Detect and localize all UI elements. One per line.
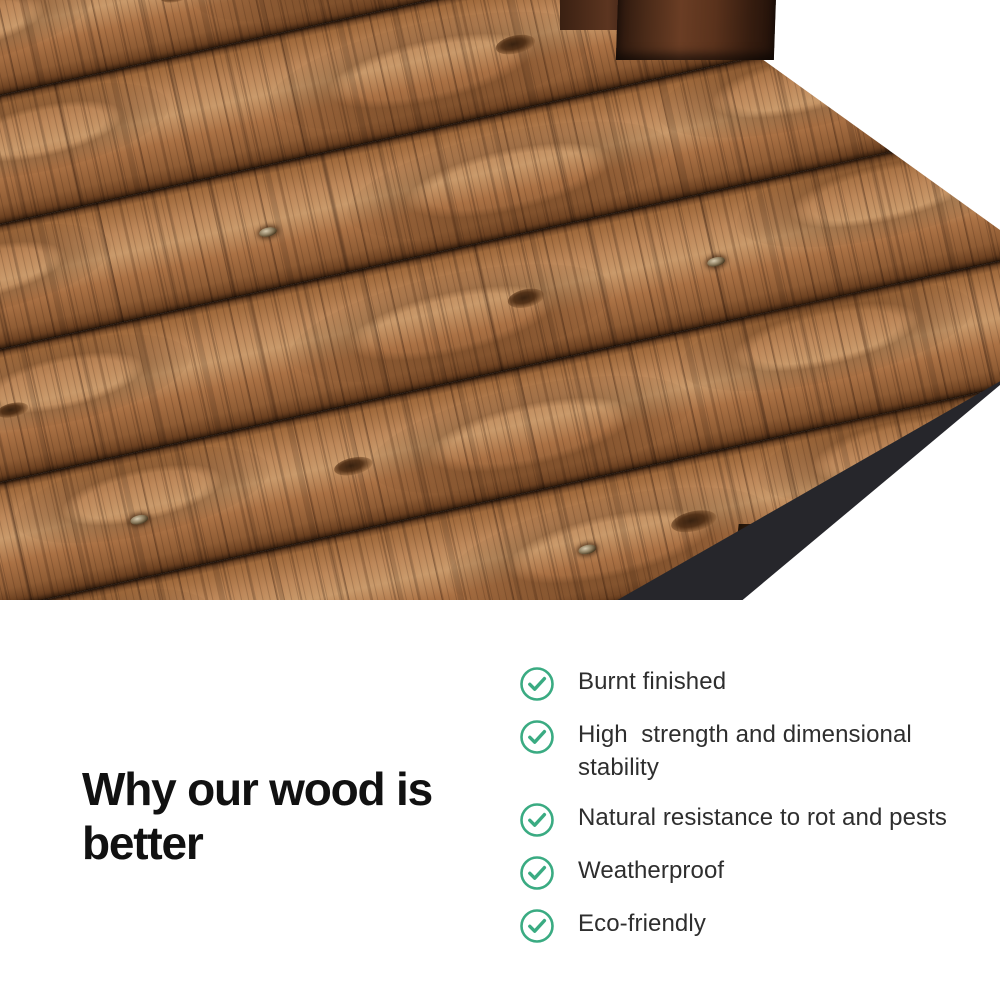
wood-post-icon	[616, 0, 776, 60]
feature-label: Weatherproof	[578, 853, 724, 887]
feature-list: Burnt finishedHigh strength and dimensio…	[518, 664, 988, 959]
feature-list-item: Natural resistance to rot and pests	[518, 800, 988, 839]
promo-page: Why our wood is better Burnt finishedHig…	[0, 0, 1000, 1000]
page-title: Why our wood is better	[82, 762, 482, 870]
feature-label: High strength and dimensional stability	[578, 717, 923, 784]
feature-list-item: High strength and dimensional stability	[518, 717, 988, 784]
product-photo	[0, 0, 1000, 600]
check-circle-icon	[518, 907, 556, 945]
feature-label: Eco-friendly	[578, 906, 706, 940]
check-circle-icon	[518, 718, 556, 756]
feature-list-item: Burnt finished	[518, 664, 988, 703]
feature-list-item: Weatherproof	[518, 853, 988, 892]
check-circle-icon	[518, 801, 556, 839]
check-circle-icon	[518, 665, 556, 703]
feature-label: Natural resistance to rot and pests	[578, 800, 947, 834]
photo-white-strip-top-right	[750, 0, 1000, 60]
feature-label: Burnt finished	[578, 664, 726, 698]
check-circle-icon	[518, 854, 556, 892]
feature-list-item: Eco-friendly	[518, 906, 988, 945]
